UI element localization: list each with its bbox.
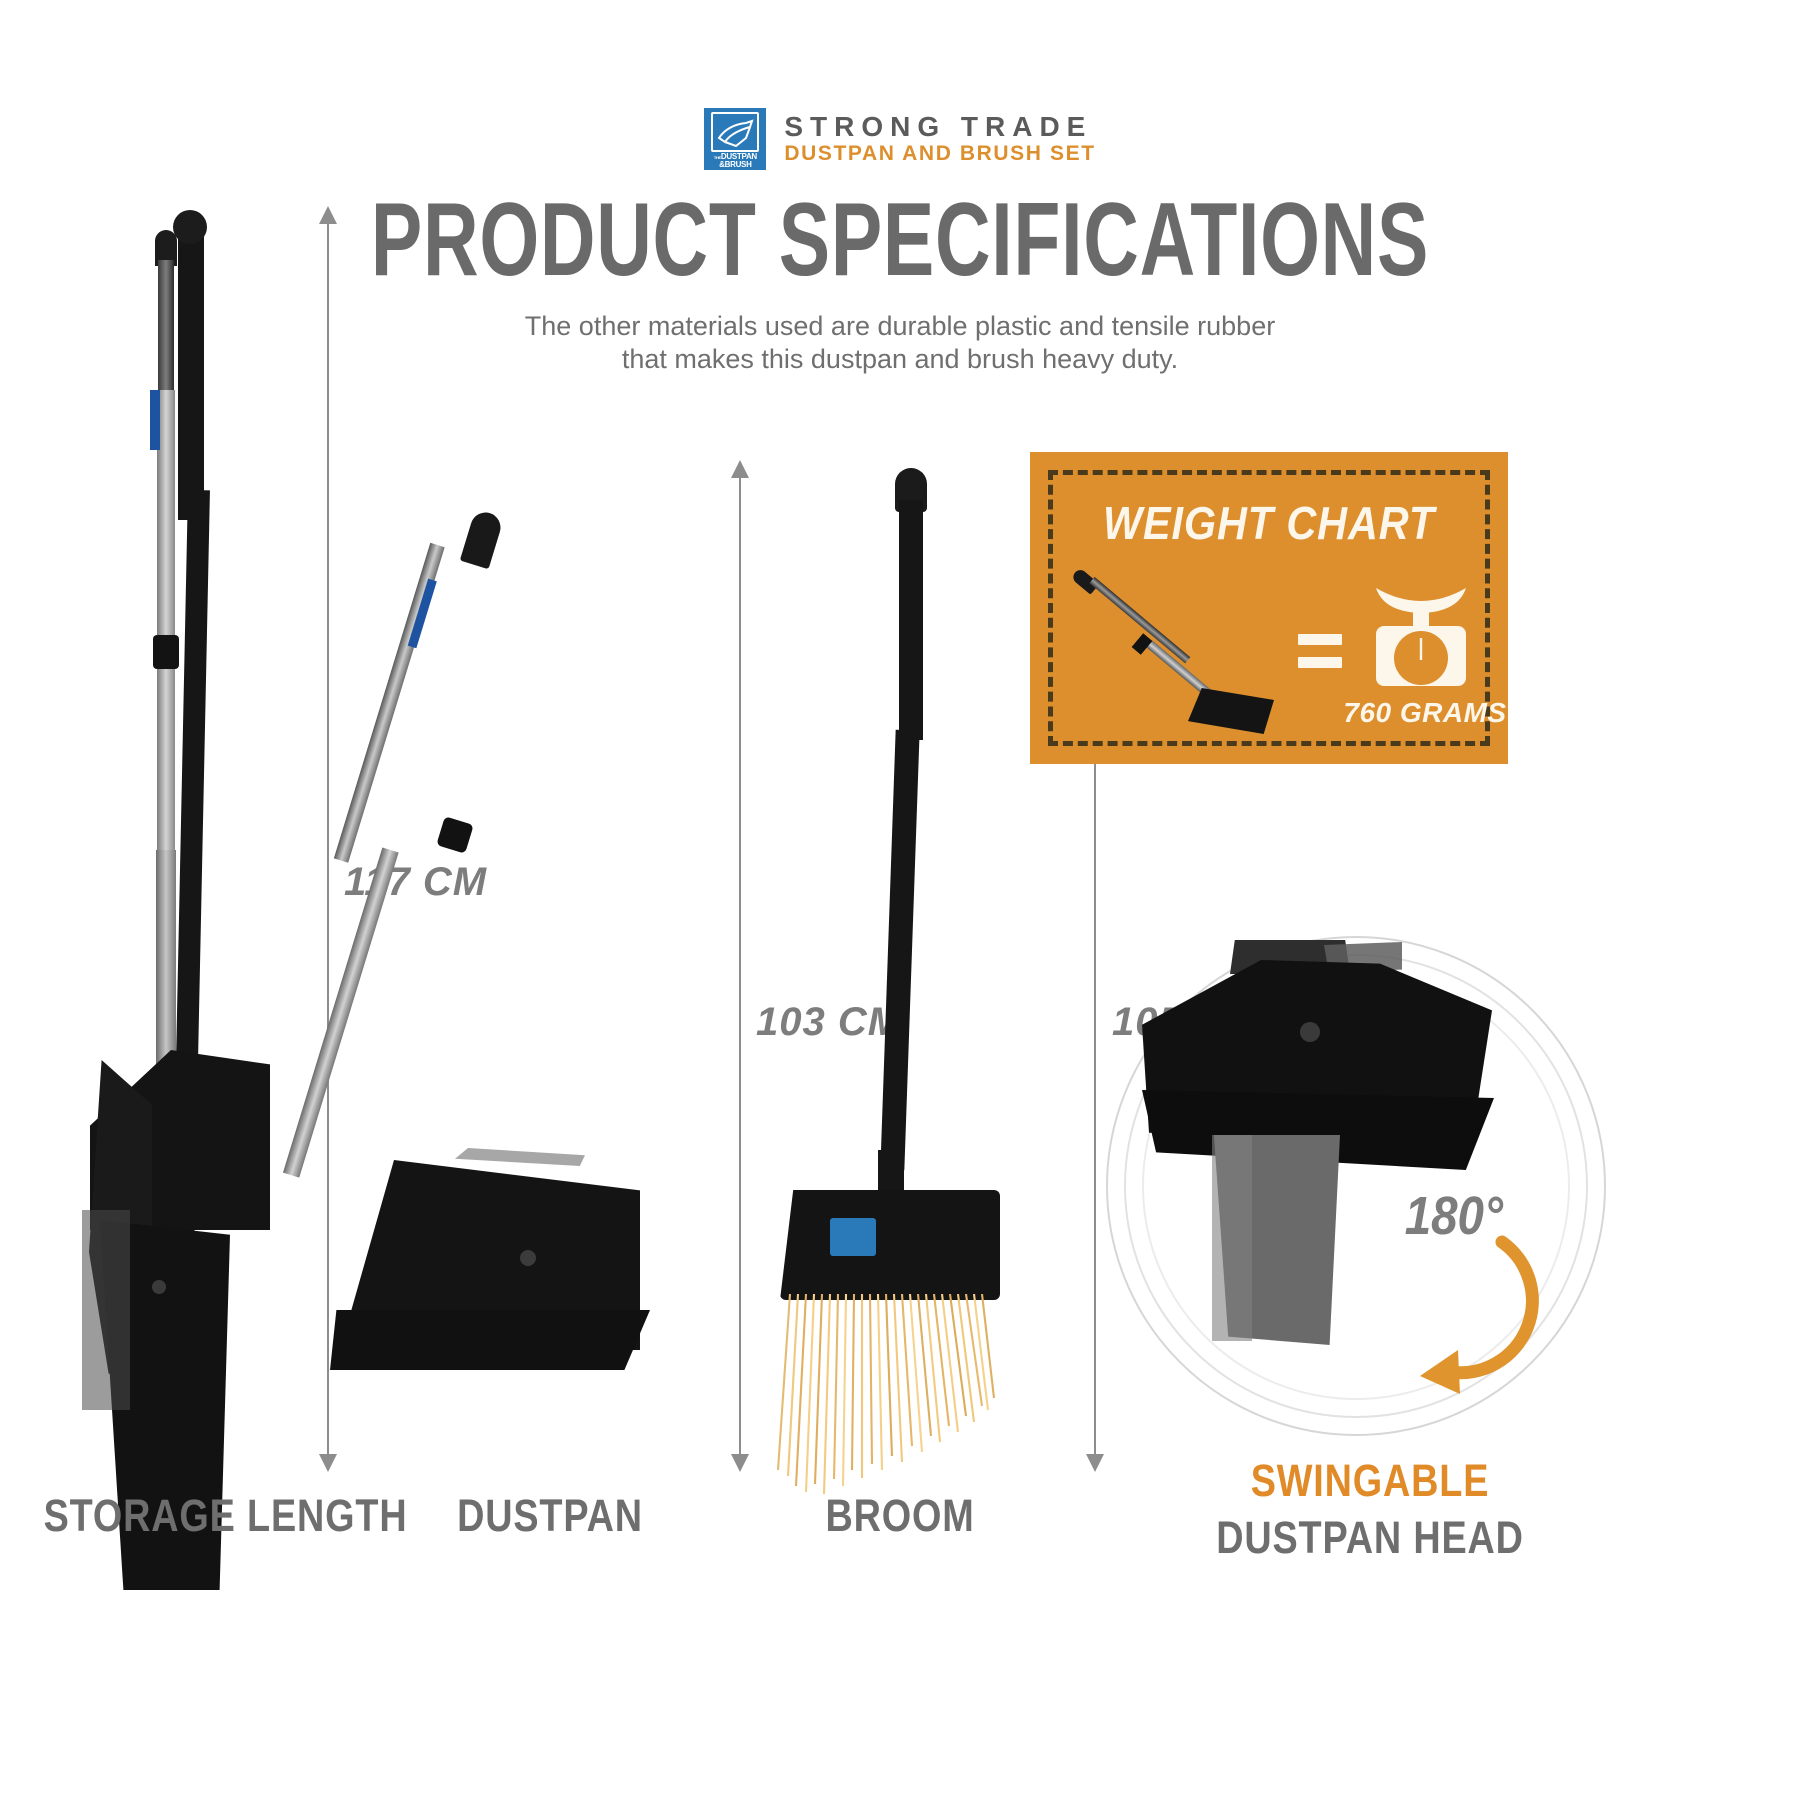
- dustpan-brush-logo-icon: [711, 112, 759, 152]
- weight-chart-title: WEIGHT CHART: [1054, 496, 1484, 550]
- brand-header: THEDUSTPAN &BRUSH STRONG TRADE DUSTPAN A…: [0, 108, 1800, 170]
- caption-storage-length: STORAGE LENGTH: [44, 1490, 397, 1542]
- caption-swingable-line2: DUSTPAN HEAD: [1168, 1512, 1571, 1564]
- product-dustpan-image: [370, 520, 700, 1470]
- arrow-head-down: [731, 1454, 749, 1472]
- page-title: PRODUCT SPECIFICATIONS: [234, 188, 1566, 292]
- logo-word-brush: &BRUSH: [719, 160, 751, 169]
- product-storage-length-image: [60, 190, 330, 1490]
- page-subtitle: The other materials used are durable pla…: [450, 310, 1350, 376]
- arrow-shaft: [739, 462, 741, 1470]
- dimension-arrow-dustpan: [730, 462, 750, 1470]
- brand-logo-wordmark: THEDUSTPAN &BRUSH: [714, 153, 757, 168]
- brand-logo: THEDUSTPAN &BRUSH: [704, 108, 766, 170]
- swingable-dustpan-callout: 180°: [1100, 930, 1620, 1450]
- arrow-head-up: [319, 206, 337, 224]
- brand-tagline: DUSTPAN AND BRUSH SET: [784, 142, 1095, 166]
- arrow-head-up: [731, 460, 749, 478]
- weight-chart-panel: WEIGHT CHART 760 GRAMS: [1030, 452, 1508, 764]
- dustpan-on-pole-icon: [1070, 562, 1320, 732]
- rotation-arrow-icon: [1380, 1230, 1570, 1400]
- arrow-shaft: [327, 208, 329, 1470]
- subtitle-line-1: The other materials used are durable pla…: [450, 310, 1350, 343]
- kitchen-scale-icon: [1366, 580, 1476, 692]
- caption-broom: BROOM: [732, 1490, 1068, 1542]
- caption-dustpan: DUSTPAN: [424, 1490, 676, 1542]
- dimension-arrow-storage-length: [318, 208, 338, 1470]
- equals-icon: [1298, 634, 1342, 668]
- weight-value: 760 GRAMS: [1330, 697, 1520, 729]
- arrow-head-down: [1086, 1454, 1104, 1472]
- infographic-canvas: THEDUSTPAN &BRUSH STRONG TRADE DUSTPAN A…: [0, 0, 1800, 1800]
- arrow-head-down: [319, 1454, 337, 1472]
- brand-name: STRONG TRADE: [784, 112, 1095, 142]
- caption-swingable-line1: SWINGABLE: [1168, 1455, 1571, 1507]
- subtitle-line-2: that makes this dustpan and brush heavy …: [450, 343, 1350, 376]
